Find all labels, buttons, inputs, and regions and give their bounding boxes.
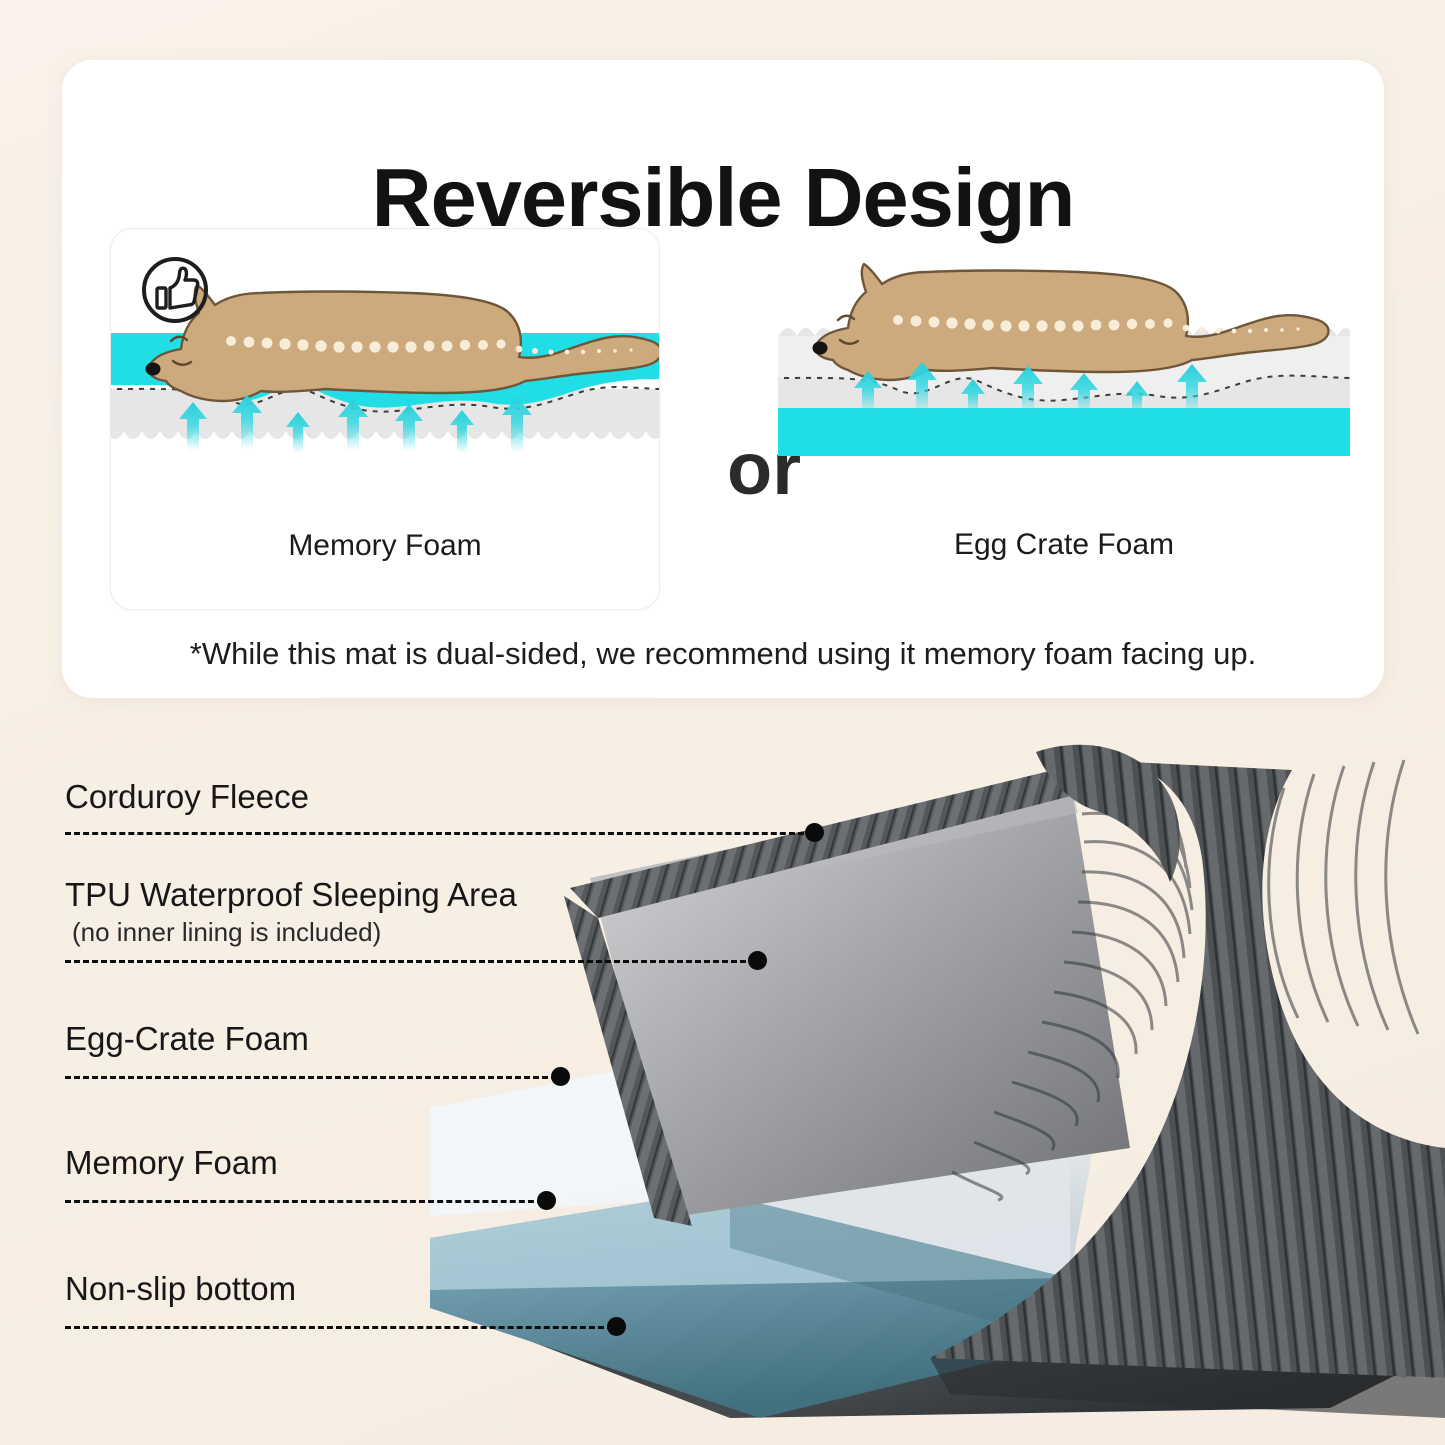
leader-line-memory-foam bbox=[65, 1200, 543, 1203]
leader-line-non-slip-bottom bbox=[65, 1326, 613, 1329]
leader-line-egg-crate-foam bbox=[65, 1076, 557, 1079]
callout-label-memory-foam: Memory Foam bbox=[65, 1144, 278, 1182]
thumbs-up-icon bbox=[140, 255, 210, 325]
leader-dot-memory-foam bbox=[537, 1191, 556, 1210]
leader-dot-egg-crate-foam bbox=[551, 1067, 570, 1086]
leader-line-corduroy-fleece bbox=[65, 832, 813, 835]
leader-dot-non-slip-bottom bbox=[607, 1317, 626, 1336]
callout-label-non-slip-bottom: Non-slip bottom bbox=[65, 1270, 296, 1308]
memory-foam-layer bbox=[778, 408, 1350, 456]
callout-label-tpu: TPU Waterproof Sleeping Area bbox=[65, 876, 517, 914]
egg-crate-foam-panel: Egg Crate Foam bbox=[778, 228, 1350, 608]
right-panel-caption: Egg Crate Foam bbox=[778, 528, 1350, 562]
product-exploded-illustration bbox=[430, 718, 1445, 1438]
footnote-text: *While this mat is dual-sided, we recomm… bbox=[62, 636, 1384, 672]
callout-sub-tpu: (no inner lining is included) bbox=[72, 917, 381, 948]
left-panel-caption: Memory Foam bbox=[111, 529, 659, 563]
dog-nose bbox=[146, 363, 161, 376]
memory-foam-panel: Memory Foam bbox=[110, 228, 660, 610]
leader-line-tpu bbox=[65, 960, 755, 963]
leader-dot-corduroy-fleece bbox=[805, 823, 824, 842]
callout-label-egg-crate-foam: Egg-Crate Foam bbox=[65, 1020, 309, 1058]
infographic-root: Reversible Design bbox=[0, 0, 1445, 1445]
reversible-design-card: Reversible Design bbox=[62, 60, 1384, 698]
layer-breakdown-section: Corduroy Fleece TPU Waterproof Sleeping … bbox=[0, 700, 1445, 1445]
page-title: Reversible Design bbox=[62, 156, 1384, 239]
leader-dot-tpu bbox=[748, 951, 767, 970]
callout-label-corduroy-fleece: Corduroy Fleece bbox=[65, 778, 309, 816]
dog-nose bbox=[813, 342, 828, 355]
